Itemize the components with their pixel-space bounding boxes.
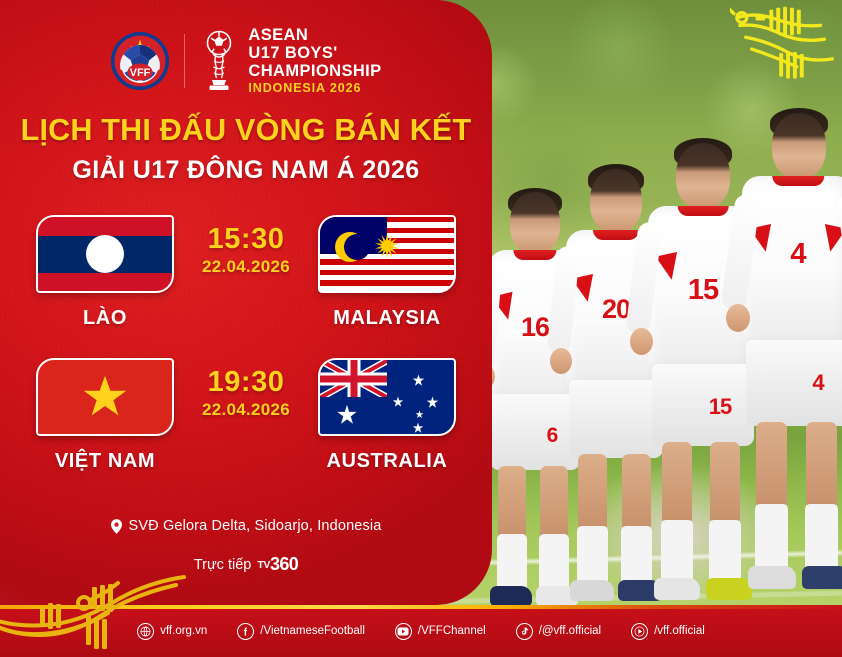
footer-link-label: /@vff.official [539, 625, 601, 637]
tournament-line-1: ASEAN [248, 26, 381, 44]
away-team: AUSTRALIA [318, 358, 456, 473]
dong-son-crane-icon [730, 0, 842, 110]
footer-link-zalo[interactable]: /vff.official [631, 623, 705, 640]
player-4: 4 4 [730, 108, 842, 608]
tiktok-icon [516, 623, 533, 640]
match-time: 19:30 [182, 367, 310, 397]
venue-text: SVĐ Gelora Delta, Sidoarjo, Indonesia [129, 518, 382, 534]
home-team-name: VIỆT NAM [36, 450, 174, 473]
malaysia-flag [318, 215, 456, 293]
tournament-line-2: U17 BOYS' [248, 44, 381, 62]
home-team: LÀO [36, 215, 174, 330]
broadcast-label: Trực tiếp [194, 557, 252, 573]
vff-logo: VFF [110, 31, 170, 91]
page-title: LỊCH THI ĐẤU VÒNG BÁN KẾT [0, 113, 492, 148]
away-team-name: AUSTRALIA [318, 450, 456, 473]
home-team-name: LÀO [36, 307, 174, 330]
laos-flag [36, 215, 174, 293]
logo-divider [184, 34, 185, 88]
tournament-line-3: CHAMPIONSHIP [248, 62, 381, 80]
location-pin-icon [111, 519, 122, 534]
page-subtitle: GIẢI U17 ĐÔNG NAM Á 2026 [0, 156, 492, 185]
match-row: LÀO 15:30 22.04.2026 [0, 215, 492, 335]
match-row: VIỆT NAM 19:30 22.04.2026 [0, 358, 492, 478]
footer-link-tiktok[interactable]: /@vff.official [516, 623, 601, 640]
svg-text:VFF: VFF [130, 67, 151, 79]
footer-link-label: /vff.official [654, 625, 705, 637]
facebook-icon [237, 623, 254, 640]
footer-link-label: /VietnameseFootball [260, 625, 365, 637]
info-panel: VFF [0, 0, 492, 605]
tournament-logo: ASEAN U17 BOYS' CHAMPIONSHIP INDONESIA 2… [199, 26, 381, 96]
vietnam-flag [36, 358, 174, 436]
australia-flag [318, 358, 456, 436]
footer-link-label: /VFFChannel [418, 625, 486, 637]
youtube-icon [395, 623, 412, 640]
footer-link-youtube[interactable]: /VFFChannel [395, 623, 486, 640]
tournament-subtitle: INDONESIA 2026 [248, 82, 381, 96]
match-date: 22.04.2026 [182, 400, 310, 420]
home-team: VIỆT NAM [36, 358, 174, 473]
away-team-name: MALAYSIA [318, 307, 456, 330]
away-team: MALAYSIA [318, 215, 456, 330]
trophy-icon [199, 30, 239, 92]
match-time: 15:30 [182, 224, 310, 254]
logo-header: VFF [0, 26, 492, 96]
match-info: 15:30 22.04.2026 [182, 215, 310, 277]
match-date: 22.04.2026 [182, 257, 310, 277]
tv360-prefix: TV [257, 559, 270, 571]
zalo-icon [631, 623, 648, 640]
venue-info: SVĐ Gelora Delta, Sidoarjo, Indonesia [0, 518, 492, 534]
match-schedule-poster: 16 6 20 [0, 0, 842, 657]
match-info: 19:30 22.04.2026 [182, 358, 310, 420]
tv360-logo: TV360 [257, 554, 298, 575]
dong-son-crane-icon [0, 563, 188, 657]
footer-link-facebook[interactable]: /VietnameseFootball [237, 623, 365, 640]
tv360-number: 360 [270, 554, 298, 575]
